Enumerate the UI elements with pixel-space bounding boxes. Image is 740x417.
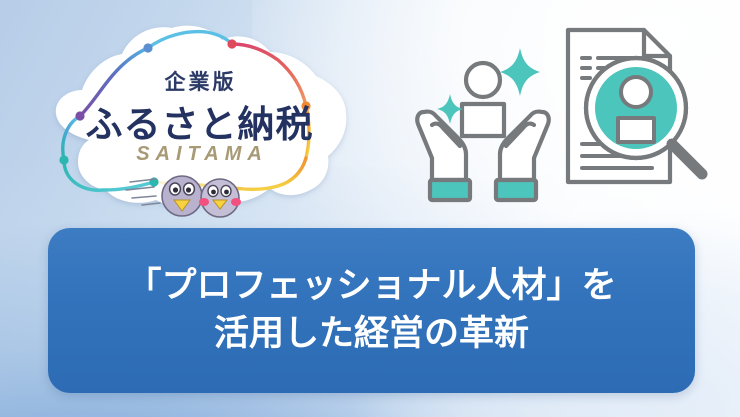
slide-canvas: 企業版 ふるさと納税 SAITAMA <box>0 0 740 417</box>
sparkle-icon-large <box>500 48 540 96</box>
furusato-nozei-logo: 企業版 ふるさと納税 SAITAMA <box>34 10 364 225</box>
hands-holding-person-icon <box>417 63 549 200</box>
banner-title-line-1: 「プロフェッショナル人材」を <box>126 266 616 307</box>
penguin-left <box>162 176 202 216</box>
professional-talent-illustration <box>408 12 728 217</box>
banner-title-line-2: 活用した経営の革新 <box>214 314 529 355</box>
title-banner: 「プロフェッショナル人材」を 活用した経営の革新 <box>48 228 695 393</box>
logo-shape <box>34 10 364 225</box>
